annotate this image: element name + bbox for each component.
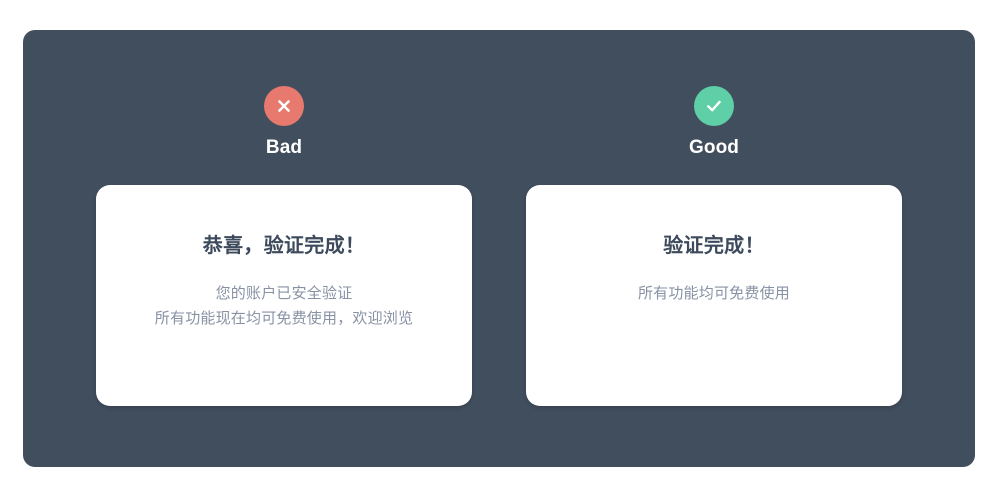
comparison-columns: Bad 恭喜，验证完成！ 您的账户已安全验证 所有功能现在均可免费使用，欢迎浏览 xyxy=(23,30,975,467)
status-label-bad: Bad xyxy=(266,137,302,159)
status-label-good: Good xyxy=(689,137,739,159)
card-title-bad: 恭喜，验证完成！ xyxy=(203,233,365,259)
close-circle-icon xyxy=(264,86,304,126)
check-circle-icon xyxy=(694,86,734,126)
example-card-bad: 恭喜，验证完成！ 您的账户已安全验证 所有功能现在均可免费使用，欢迎浏览 xyxy=(96,185,472,406)
card-title-good: 验证完成！ xyxy=(663,233,765,259)
example-card-good: 验证完成！ 所有功能均可免费使用 xyxy=(526,185,902,406)
status-badge-bad: Bad xyxy=(264,86,304,159)
card-body-line: 所有功能均可免费使用 xyxy=(638,281,790,306)
comparison-column-good: Good 验证完成！ 所有功能均可免费使用 xyxy=(499,30,929,406)
comparison-column-bad: Bad 恭喜，验证完成！ 您的账户已安全验证 所有功能现在均可免费使用，欢迎浏览 xyxy=(69,30,499,406)
card-body-bad: 您的账户已安全验证 所有功能现在均可免费使用，欢迎浏览 xyxy=(155,281,413,331)
status-badge-good: Good xyxy=(689,86,739,159)
card-body-good: 所有功能均可免费使用 xyxy=(638,281,790,306)
card-body-line: 所有功能现在均可免费使用，欢迎浏览 xyxy=(155,306,413,331)
comparison-screenshot: Bad 恭喜，验证完成！ 您的账户已安全验证 所有功能现在均可免费使用，欢迎浏览 xyxy=(0,0,1000,483)
comparison-panel: Bad 恭喜，验证完成！ 您的账户已安全验证 所有功能现在均可免费使用，欢迎浏览 xyxy=(23,30,975,467)
card-body-line: 您的账户已安全验证 xyxy=(155,281,413,306)
